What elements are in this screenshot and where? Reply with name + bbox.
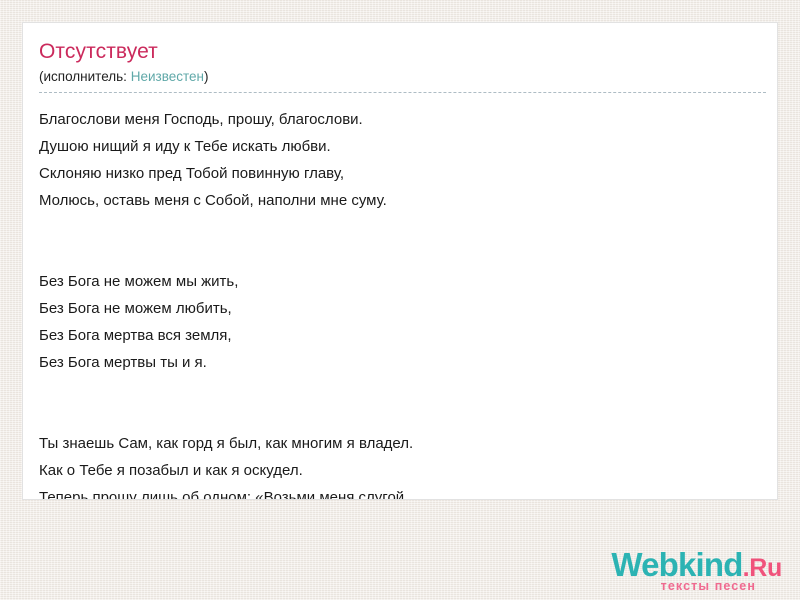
page-title: Отсутствует [39, 39, 757, 65]
site-logo-tld: .Ru [743, 554, 782, 582]
site-logo[interactable]: Webkind.Ru тексты песен [611, 548, 782, 593]
artist-suffix-label: ) [204, 69, 209, 84]
lyrics-text: Благослови меня Господь, прошу, благосло… [39, 106, 757, 500]
header-divider [39, 92, 766, 93]
artist-prefix-label: (исполнитель: [39, 69, 127, 84]
song-lyrics-card: Отсутствует (исполнитель: Неизвестен) Бл… [22, 22, 778, 500]
artist-line: (исполнитель: Неизвестен) [39, 68, 757, 86]
page-root: Отсутствует (исполнитель: Неизвестен) Бл… [0, 0, 800, 600]
site-logo-name: Webkind [611, 546, 742, 583]
artist-link[interactable]: Неизвестен [131, 69, 204, 84]
card-content: Отсутствует (исполнитель: Неизвестен) Бл… [23, 23, 777, 500]
